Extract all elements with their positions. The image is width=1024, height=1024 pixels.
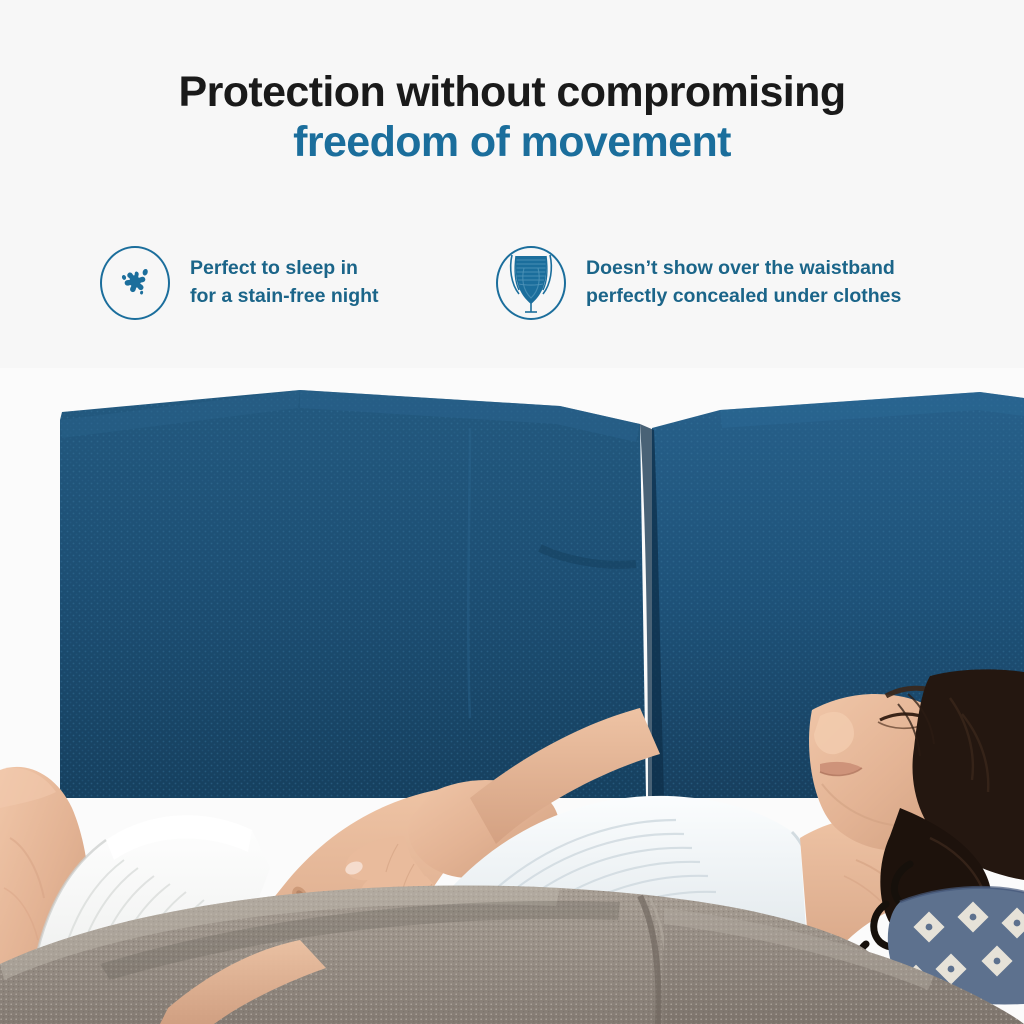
feature-line-2: perfectly concealed under clothes [586, 283, 901, 311]
feature-line-2: for a stain-free night [190, 283, 379, 311]
product-advertisement: Protection without compromising freedom … [0, 0, 1024, 1024]
feature-line-1: Perfect to sleep in [190, 255, 379, 283]
feature-list: Perfect to sleep in for a stain-free nig… [0, 246, 1024, 346]
underwear-brief-icon [496, 246, 566, 320]
feature-label-concealed: Doesn’t show over the waistband perfectl… [586, 255, 901, 310]
feature-item-sleep: Perfect to sleep in for a stain-free nig… [100, 246, 379, 320]
lifestyle-photo [0, 368, 1024, 1024]
feature-label-sleep: Perfect to sleep in for a stain-free nig… [190, 255, 379, 310]
feature-item-concealed: Doesn’t show over the waistband perfectl… [496, 246, 901, 320]
page-title: Protection without compromising freedom … [0, 68, 1024, 170]
feature-line-1: Doesn’t show over the waistband [586, 255, 901, 283]
headline-line-2: freedom of movement [0, 116, 1024, 170]
headline-line-1: Protection without compromising [0, 68, 1024, 116]
splash-icon [100, 246, 170, 320]
